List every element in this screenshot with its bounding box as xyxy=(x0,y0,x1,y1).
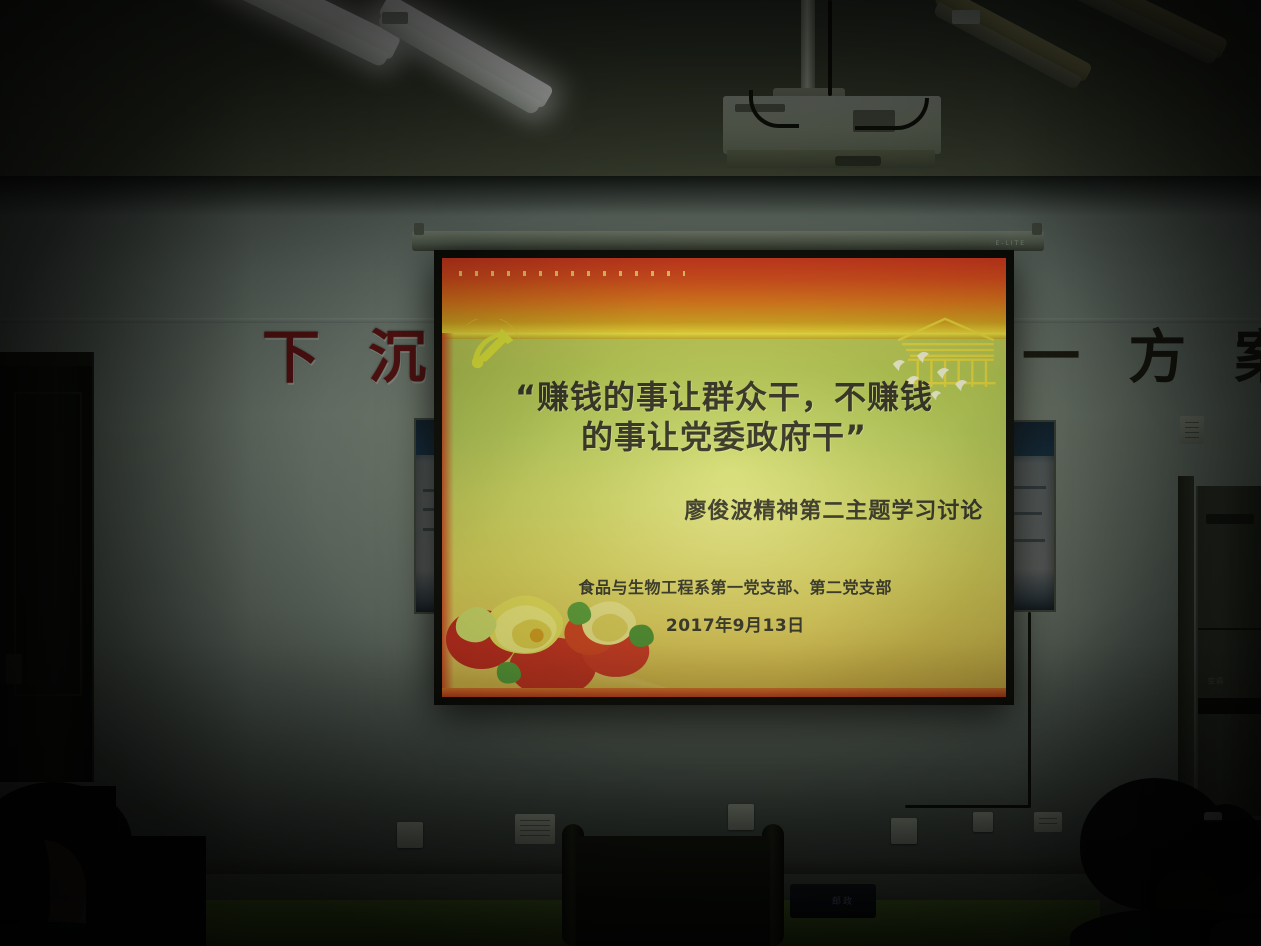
slide-title: “赚钱的事让群众干，不赚钱 的事让党委政府干” xyxy=(470,377,978,458)
slide-organization: 食品与生物工程系第一党支部、第二党支部 xyxy=(487,574,983,598)
lamp-mount-2 xyxy=(952,10,980,24)
room-door[interactable] xyxy=(0,352,94,782)
slide-title-line-1: “赚钱的事让群众干，不赚钱 xyxy=(470,377,978,417)
projection-screen-roller[interactable]: E-LITE xyxy=(412,231,1044,251)
projector-base xyxy=(727,150,935,168)
ac-unit-side xyxy=(1178,476,1194,822)
room-photo-scene: 下 沉 一 一 方 案 E-LITE xyxy=(0,0,1261,946)
wall-plate-center xyxy=(515,814,555,844)
projection-screen[interactable]: “赚钱的事让群众干，不赚钱 的事让党委政府干” 廖俊波精神第二主题学习讨论 食品… xyxy=(434,250,1014,705)
door-panel xyxy=(14,392,82,696)
wall-cable-vertical xyxy=(1028,612,1031,807)
slide-date: 2017年9月13日 xyxy=(487,611,983,636)
wall-shadow xyxy=(0,176,1261,216)
wall-outlet-far-right[interactable] xyxy=(973,812,993,832)
door-handle-icon[interactable] xyxy=(6,654,22,684)
wall-plate-right xyxy=(1034,812,1062,832)
bag-label: 邮政 xyxy=(832,894,854,907)
ac-vent-icon xyxy=(1206,514,1254,524)
foreground-object-right xyxy=(1150,820,1261,946)
slide-bottom-band xyxy=(442,688,1006,697)
hammer-sickle-icon xyxy=(465,319,523,373)
foreground-object-left xyxy=(86,836,206,946)
conference-chair[interactable] xyxy=(562,824,784,946)
ceiling-projector xyxy=(723,96,941,168)
projector-lens-icon xyxy=(835,156,881,166)
roller-bracket xyxy=(1032,223,1042,235)
slide-title-line-2: 的事让党委政府干” xyxy=(470,417,978,457)
wall-outlet-left[interactable] xyxy=(397,822,423,848)
slide-subtitle: 廖俊波精神第二主题学习讨论 xyxy=(498,493,983,525)
plate-grill-icon xyxy=(1185,422,1199,438)
plate-grill-icon xyxy=(1039,818,1057,826)
wall-slogan-right: 一 方 案 xyxy=(1022,328,1261,386)
plate-grill-icon xyxy=(520,820,550,838)
banner-dot-pattern xyxy=(459,271,685,276)
foreground-object-left-2 xyxy=(76,786,116,846)
screen-brand-mark: E-LITE xyxy=(995,240,1026,247)
ceiling-cable xyxy=(828,0,832,96)
wall-outlet-right[interactable] xyxy=(891,818,917,844)
ac-unit-label: 空调 xyxy=(1208,676,1224,686)
lamp-mount-1 xyxy=(382,12,408,24)
ac-seam xyxy=(1198,628,1261,630)
wall-plate-upper xyxy=(1180,416,1204,444)
roller-bracket xyxy=(414,223,424,235)
presentation-slide: “赚钱的事让群众干，不赚钱 的事让党委政府干” 廖俊波精神第二主题学习讨论 食品… xyxy=(442,258,1006,697)
wall-cable-horizontal xyxy=(905,805,1031,808)
door-header xyxy=(0,352,92,366)
ac-display-panel xyxy=(1198,698,1261,714)
document-bag[interactable]: 邮政 xyxy=(790,884,876,918)
chair-back xyxy=(576,836,770,946)
air-conditioner-unit[interactable]: 空调 xyxy=(1196,486,1261,816)
